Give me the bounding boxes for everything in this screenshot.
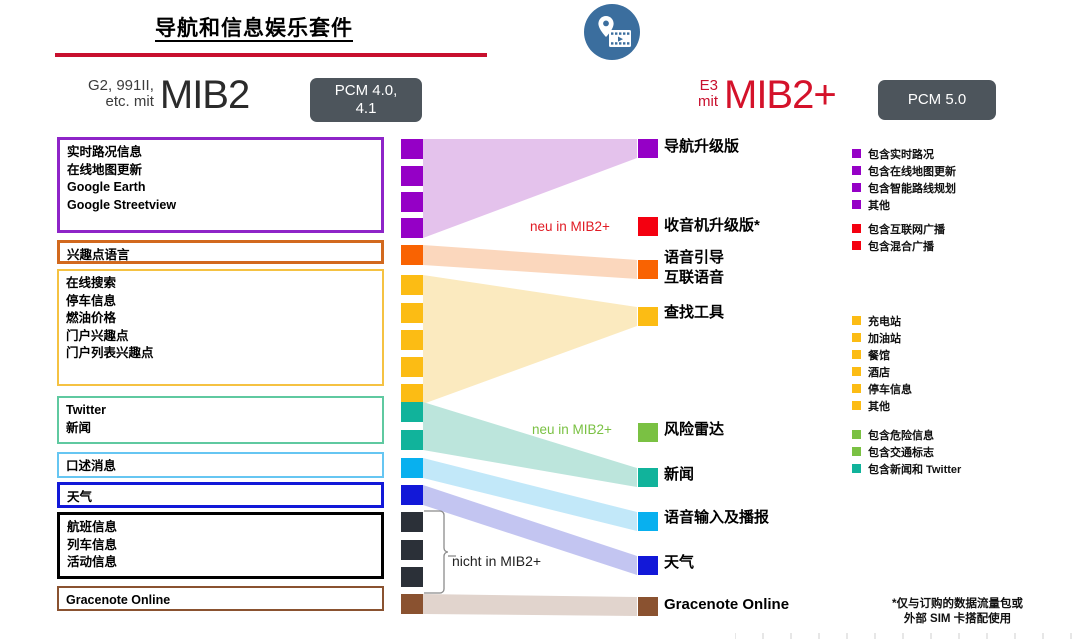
- bottom-tick-marks: [735, 633, 1080, 639]
- marker-train: [401, 540, 423, 560]
- feature-item: 航班信息: [67, 519, 381, 537]
- page-title: 导航和信息娱乐套件: [155, 12, 353, 42]
- legend-swatch-icon: [852, 149, 861, 158]
- marker-parking: [401, 303, 423, 323]
- legend-label: 包含新闻和 Twitter: [868, 461, 961, 477]
- feature-item: Google Earth: [67, 179, 381, 197]
- legend-swatch-icon: [852, 316, 861, 325]
- system-right-name: MIB2+: [724, 74, 836, 116]
- legend-label: 其他: [868, 197, 890, 213]
- marker-twitter: [401, 402, 423, 422]
- marker-gracenote: [401, 594, 423, 614]
- output-gracenote-swatch: [638, 597, 658, 616]
- marker-google-earth: [401, 192, 423, 212]
- output-label-line: 新闻: [664, 465, 694, 485]
- poi-language-group[interactable]: 兴趣点语言: [57, 240, 384, 264]
- neu-in-mib2plus-radio-label: neu in MIB2+: [530, 219, 610, 234]
- legend-row: 包含危险信息: [852, 426, 961, 443]
- legend-label: 其他: [868, 398, 890, 414]
- legend-row: 其他: [852, 196, 956, 213]
- output-label-line: 互联语音: [664, 268, 724, 288]
- feature-item: Twitter: [66, 402, 382, 420]
- output-navigation-upgrade-label[interactable]: 导航升级版: [664, 137, 739, 157]
- feature-item: 新闻: [66, 420, 382, 438]
- feature-item: Gracenote Online: [66, 592, 382, 610]
- footnote: *仅与订购的数据流量包或 外部 SIM 卡搭配使用: [845, 597, 1070, 627]
- output-news-swatch: [638, 468, 658, 487]
- legend-row: 加油站: [852, 329, 912, 346]
- legend-risk-news: 包含危险信息包含交通标志包含新闻和 Twitter: [852, 426, 961, 477]
- pcm-chip-left: PCM 4.0, 4.1: [310, 78, 422, 122]
- output-voice-swatch: [638, 260, 658, 279]
- feature-item: 列车信息: [67, 537, 381, 555]
- marker-streetview: [401, 218, 423, 238]
- output-label-line: Gracenote Online: [664, 595, 789, 615]
- output-weather-label[interactable]: 天气: [664, 553, 694, 573]
- feature-item: 实时路况信息: [67, 144, 381, 162]
- output-label-line: 天气: [664, 553, 694, 573]
- legend-radio: 包含互联网广播包含混合广播: [852, 220, 945, 254]
- output-voice-input-swatch: [638, 512, 658, 531]
- feature-item: 门户列表兴趣点: [66, 345, 382, 363]
- output-label-line: 收音机升级版*: [664, 216, 760, 236]
- marker-news: [401, 430, 423, 450]
- legend-row: 包含新闻和 Twitter: [852, 460, 961, 477]
- feature-item: Google Streetview: [67, 197, 381, 215]
- output-radio-upgrade-label[interactable]: 收音机升级版*: [664, 216, 760, 236]
- output-radio-upgrade-swatch: [638, 217, 658, 236]
- legend-row: 包含实时路况: [852, 145, 956, 162]
- marker-traffic: [401, 139, 423, 159]
- feature-item: 停车信息: [66, 293, 382, 311]
- feature-item: 活动信息: [67, 554, 381, 572]
- legend-swatch-icon: [852, 224, 861, 233]
- output-search-tools-swatch: [638, 307, 658, 326]
- marker-dictated: [401, 458, 423, 478]
- legend-row: 酒店: [852, 363, 912, 380]
- legend-label: 包含智能路线规划: [868, 180, 956, 196]
- legend-swatch-icon: [852, 384, 861, 393]
- news-group[interactable]: Twitter新闻: [57, 396, 384, 444]
- marker-weather: [401, 485, 423, 505]
- dictated-message-group[interactable]: 口述消息: [57, 452, 384, 478]
- feature-item: 兴趣点语言: [67, 247, 381, 265]
- feature-item: 门户兴趣点: [66, 328, 382, 346]
- legend-label: 包含互联网广播: [868, 221, 945, 237]
- legend-search: 充电站加油站餐馆酒店停车信息其他: [852, 312, 912, 414]
- weather-group[interactable]: 天气: [57, 482, 384, 508]
- legend-label: 包含实时路况: [868, 146, 934, 162]
- feature-item: 在线搜索: [66, 275, 382, 293]
- system-left-name: MIB2: [160, 74, 249, 116]
- legend-label: 加油站: [868, 330, 901, 346]
- feature-item: 在线地图更新: [67, 162, 381, 180]
- legend-row: 包含混合广播: [852, 237, 945, 254]
- pcm-chip-right: PCM 5.0: [878, 80, 996, 120]
- legend-label: 包含混合广播: [868, 238, 934, 254]
- legend-label: 充电站: [868, 313, 901, 329]
- travel-info-group[interactable]: 航班信息列车信息活动信息: [57, 512, 384, 579]
- system-right-subtitle: E3 mit: [698, 78, 724, 112]
- legend-swatch-icon: [852, 241, 861, 250]
- legend-label: 餐馆: [868, 347, 890, 363]
- output-risk-radar-label[interactable]: 风险雷达: [664, 420, 724, 440]
- output-label-line: 导航升级版: [664, 137, 739, 157]
- legend-label: 包含交通标志: [868, 444, 934, 460]
- marker-map-update: [401, 166, 423, 186]
- output-weather-swatch: [638, 556, 658, 575]
- legend-swatch-icon: [852, 401, 861, 410]
- legend-row: 其他: [852, 397, 912, 414]
- marker-portal-poi: [401, 357, 423, 377]
- legend-swatch-icon: [852, 464, 861, 473]
- legend-row: 餐馆: [852, 346, 912, 363]
- output-voice-input-label[interactable]: 语音输入及播报: [664, 508, 769, 528]
- legend-swatch-icon: [852, 447, 861, 456]
- system-right-title: E3 mit MIB2+: [698, 74, 836, 116]
- title-underline-rule: [55, 53, 487, 57]
- feature-item: 天气: [67, 489, 381, 507]
- legend-swatch-icon: [852, 183, 861, 192]
- legend-label: 酒店: [868, 364, 890, 380]
- legend-label: 包含危险信息: [868, 427, 934, 443]
- gracenote-group[interactable]: Gracenote Online: [57, 586, 384, 611]
- legend-swatch-icon: [852, 367, 861, 376]
- marker-online-search: [401, 275, 423, 295]
- system-left-subtitle: G2, 991II, etc. mit: [88, 78, 160, 112]
- legend-swatch-icon: [852, 166, 861, 175]
- legend-label: 包含在线地图更新: [868, 163, 956, 179]
- nicht-in-mib2plus-label: nicht in MIB2+: [452, 553, 541, 569]
- legend-row: 包含在线地图更新: [852, 162, 956, 179]
- output-gracenote-label[interactable]: Gracenote Online: [664, 595, 789, 615]
- legend-swatch-icon: [852, 350, 861, 359]
- output-news-label[interactable]: 新闻: [664, 465, 694, 485]
- feature-item: 燃油价格: [66, 310, 382, 328]
- neu-in-mib2plus-risk-label: neu in MIB2+: [532, 422, 612, 437]
- output-label-line: 语音引导: [664, 248, 724, 268]
- legend-row: 包含交通标志: [852, 443, 961, 460]
- legend-row: 包含智能路线规划: [852, 179, 956, 196]
- output-navigation-upgrade-swatch: [638, 139, 658, 158]
- marker-flight: [401, 512, 423, 532]
- navigation-infotainment-icon: [584, 4, 640, 60]
- output-voice-label[interactable]: 语音引导互联语音: [664, 248, 724, 288]
- legend-row: 充电站: [852, 312, 912, 329]
- output-label-line: 语音输入及播报: [664, 508, 769, 528]
- legend-row: 停车信息: [852, 380, 912, 397]
- legend-navigation: 包含实时路况包含在线地图更新包含智能路线规划其他: [852, 145, 956, 213]
- legend-swatch-icon: [852, 333, 861, 342]
- legend-row: 包含互联网广播: [852, 220, 945, 237]
- navigation-group[interactable]: 实时路况信息在线地图更新Google EarthGoogle Streetvie…: [57, 137, 384, 233]
- legend-label: 停车信息: [868, 381, 912, 397]
- marker-fuel-price: [401, 330, 423, 350]
- output-search-tools-label[interactable]: 查找工具: [664, 303, 724, 323]
- output-label-line: 查找工具: [664, 303, 724, 323]
- marker-portal-list-poi: [401, 384, 423, 404]
- system-left-title: G2, 991II, etc. mit MIB2: [88, 74, 249, 116]
- output-risk-radar-swatch: [638, 423, 658, 442]
- marker-event: [401, 567, 423, 587]
- legend-swatch-icon: [852, 200, 861, 209]
- search-group[interactable]: 在线搜索停车信息燃油价格门户兴趣点门户列表兴趣点: [57, 269, 384, 386]
- marker-poi-language: [401, 245, 423, 265]
- output-label-line: 风险雷达: [664, 420, 724, 440]
- feature-item: 口述消息: [66, 458, 382, 476]
- legend-swatch-icon: [852, 430, 861, 439]
